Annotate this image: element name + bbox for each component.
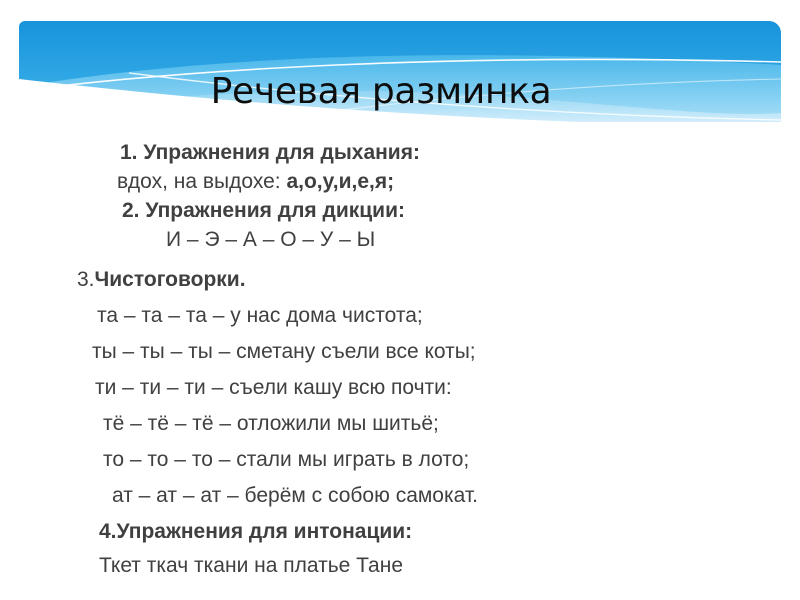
breathing-vowels: а,о,у,и,е,я; xyxy=(286,170,394,193)
body-text-block: 1. Упражнения для дыхания: вдох, на выдо… xyxy=(0,138,800,580)
body-line-exercise-intonation-heading: 4.Упражнения для интонации: xyxy=(0,517,800,546)
body-line-tongue-twister-to: то – то – то – стали мы играть в лото; xyxy=(0,445,800,474)
slide-canvas: Речевая разминка 1. Упражнения для дыхан… xyxy=(0,0,800,600)
body-line-tongue-twister-ty: ты – ты – ты – сметану съели все коты; xyxy=(0,337,800,366)
body-line-exercise-diction-heading: 2. Упражнения для дикции: xyxy=(0,196,800,225)
header-banner-graphic xyxy=(19,21,781,122)
body-line-intonation-phrase: Ткет ткач ткани на платье Тане xyxy=(0,551,800,580)
body-line-chistogovorki-heading: 3.Чистоговорки. xyxy=(0,265,800,294)
body-line-exercise-breathing-heading: 1. Упражнения для дыхания: xyxy=(0,138,800,167)
chistogovorki-label: Чистоговорки. xyxy=(95,268,246,291)
body-line-diction-vowels: И – Э – А – О – У – Ы xyxy=(0,225,800,254)
body-line-tongue-twister-ti: ти – ти – ти – съели кашу всю почти: xyxy=(0,373,800,402)
body-line-tongue-twister-ta: та – та – та – у нас дома чистота; xyxy=(0,301,800,330)
body-line-tongue-twister-tyo: тё – тё – тё – отложили мы шитьё; xyxy=(0,409,800,438)
breathing-lead-text: вдох, на выдохе: xyxy=(117,170,286,193)
chistogovorki-number: 3. xyxy=(77,268,95,291)
body-line-breathing-vowels: вдох, на выдохе: а,о,у,и,е,я; xyxy=(0,167,800,196)
header-banner: Речевая разминка xyxy=(19,21,781,122)
body-line-tongue-twister-at: ат – ат – ат – берём с собою самокат. xyxy=(0,481,800,510)
